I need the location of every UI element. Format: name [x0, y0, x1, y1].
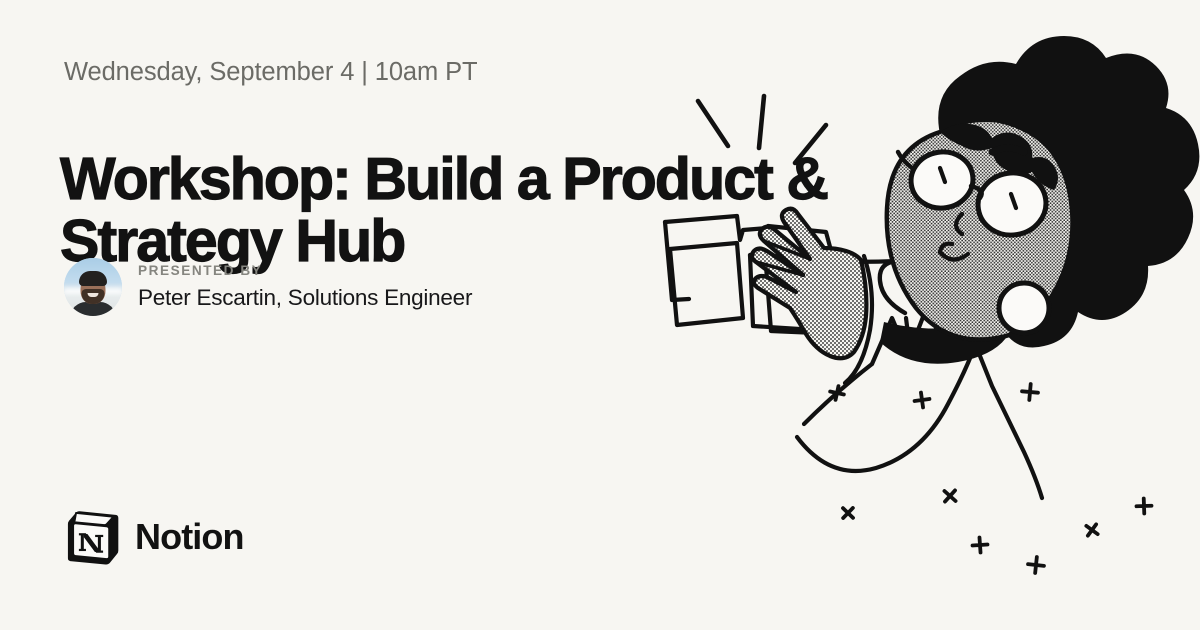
burst-line-left — [698, 101, 728, 146]
presented-by-label: PRESENTED BY — [138, 263, 472, 278]
avatar — [64, 258, 122, 316]
sparkle-4 — [838, 503, 858, 523]
notion-logo: Notion — [64, 509, 244, 565]
sparkle-6 — [972, 537, 988, 553]
notion-wordmark: Notion — [135, 519, 244, 555]
avatar-torso — [70, 302, 116, 316]
eyebrow — [992, 148, 1024, 152]
hero-illustration — [640, 0, 1200, 630]
burst-line-center — [759, 96, 764, 148]
presenter-text: PRESENTED BY Peter Escartin, Solutions E… — [138, 263, 472, 311]
notion-cube-icon — [64, 509, 120, 565]
sparkle-marks — [829, 383, 1152, 573]
event-date: Wednesday, September 4 | 10am PT — [64, 58, 478, 87]
burst-line-right — [795, 125, 826, 163]
event-banner: Wednesday, September 4 | 10am PT Worksho… — [0, 0, 1200, 630]
avatar-hair — [79, 271, 107, 286]
hand — [752, 209, 867, 359]
presenter-block: PRESENTED BY Peter Escartin, Solutions E… — [64, 258, 472, 316]
sparkle-9 — [1136, 498, 1152, 514]
person-reading-book-illustration — [640, 0, 1200, 630]
earring — [999, 283, 1049, 333]
presenter-name: Peter Escartin, Solutions Engineer — [138, 285, 472, 311]
sparkle-8 — [1027, 556, 1045, 574]
burst-lines — [698, 96, 826, 163]
sparkle-5 — [939, 485, 960, 506]
sparkle-7 — [1082, 520, 1102, 540]
illustration-ink — [665, 36, 1199, 574]
sparkle-3 — [1021, 383, 1038, 400]
sparkle-2 — [914, 392, 931, 409]
